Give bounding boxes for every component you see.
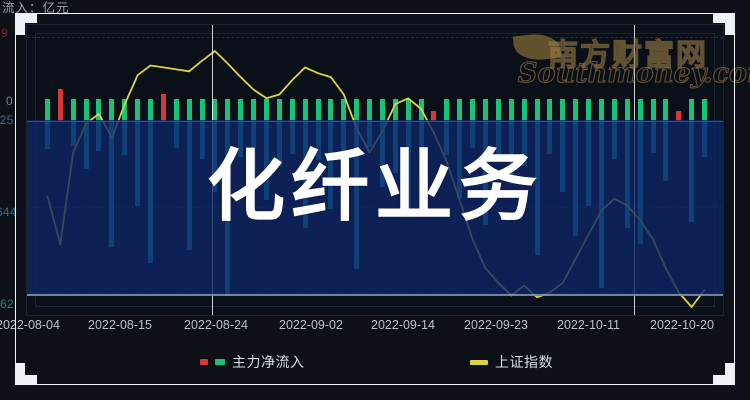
zero-line: [27, 121, 723, 122]
x-axis-label: 2022-09-02: [279, 318, 343, 332]
x-axis-label: 2022-08-04: [0, 318, 60, 332]
resize-handle-right-top[interactable]: [725, 13, 735, 35]
legend-label: 主力净流入: [232, 352, 305, 372]
x-axis-label: 2022-08-15: [88, 318, 152, 332]
x-axis: 2022-08-04 2022-08-15 2022-08-24 2022-09…: [0, 318, 750, 340]
x-axis-label: 2022-08-24: [184, 318, 248, 332]
legend-swatch-yellow-icon: [470, 360, 488, 365]
x-axis-label: 2022-10-20: [650, 318, 714, 332]
y-axis-label-0: 39: [0, 26, 8, 40]
page-title: 化纤业务: [0, 148, 750, 226]
chart-legend: 主力净流入 上证指数: [0, 348, 750, 376]
legend-item-index[interactable]: 上证指数: [470, 352, 553, 372]
legend-swatch-red-icon: [200, 359, 208, 365]
x-axis-label: 2022-10-11: [557, 318, 620, 332]
x-axis-label: 2022-09-14: [371, 318, 435, 332]
y-axis-label-2: .25: [0, 113, 14, 127]
resize-handle-left-bottom[interactable]: [15, 363, 25, 385]
baseline-band: [27, 294, 723, 296]
legend-swatch-green-icon: [215, 359, 225, 365]
y-axis-label-4: 62: [0, 297, 14, 311]
y-axis-label-1: 0: [6, 94, 13, 108]
legend-item-netinflow[interactable]: 主力净流入: [200, 352, 305, 372]
resize-handle-left-top[interactable]: [15, 13, 25, 35]
resize-handle-right-bottom[interactable]: [725, 363, 735, 385]
x-axis-label: 2022-09-23: [464, 318, 528, 332]
legend-label: 上证指数: [495, 352, 553, 372]
chart-screenshot: 流入：亿元 39 0 .25 644 62 2022-08-04 2022-08…: [0, 0, 750, 400]
